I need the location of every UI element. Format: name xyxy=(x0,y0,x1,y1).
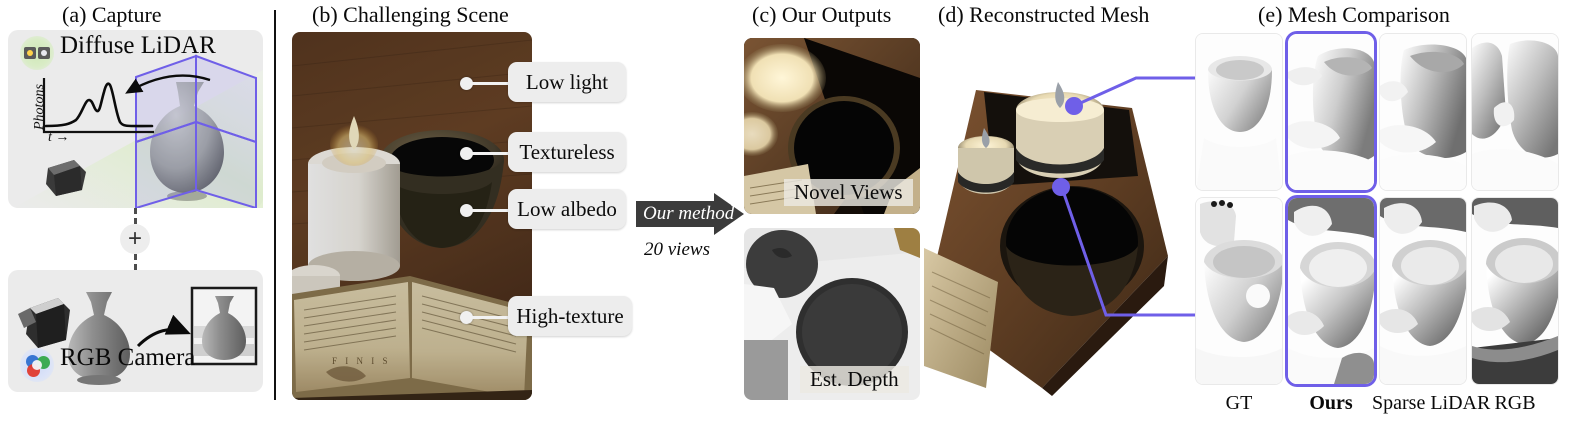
mesh-render-sparse-lidar-row1 xyxy=(1380,34,1466,190)
column-caption-gt: GT xyxy=(1196,392,1282,415)
column-caption-rgb: RGB xyxy=(1472,392,1558,415)
mesh-render-rgb-row2 xyxy=(1472,198,1558,384)
rgb-camera-label: RGB Camera xyxy=(60,344,195,372)
caption-est-depth: Est. Depth xyxy=(800,366,909,393)
connector-dash-bottom xyxy=(134,254,137,270)
return-signal-arrow-icon xyxy=(104,72,224,120)
mesh-render-sparse-lidar-row2 xyxy=(1380,198,1466,384)
callout-textureless[interactable]: Textureless xyxy=(508,132,626,172)
panel-divider xyxy=(274,10,276,400)
mesh-render-gt-row1 xyxy=(1196,34,1282,190)
panel-title-b: (b) Challenging Scene xyxy=(312,2,509,28)
combine-plus-icon: + xyxy=(120,224,150,254)
callout-high-texture[interactable]: High-texture xyxy=(508,296,632,336)
panel-title-a: (a) Capture xyxy=(62,2,162,28)
rgb-camera-card: RGB Camera xyxy=(8,270,263,392)
method-arrow-label: Our method xyxy=(643,203,734,225)
photon-plot-ylabel: Photons xyxy=(32,84,48,130)
rgb-color-wheel-icon xyxy=(20,348,54,382)
figure-root: (a) Capture (b) Challenging Scene (c) Ou… xyxy=(0,0,1593,436)
panel-title-e: (e) Mesh Comparison xyxy=(1258,2,1450,28)
diffuse-lidar-label: Diffuse LiDAR xyxy=(60,32,216,60)
mesh-tile-gt-row2[interactable] xyxy=(1196,198,1282,384)
diffuse-lidar-card: Diffuse LiDAR Photons t → xyxy=(8,30,263,208)
mesh-tile-ours-row2[interactable] xyxy=(1288,198,1374,384)
method-arrow-sublabel: 20 views xyxy=(644,239,710,261)
column-caption-ours: Ours xyxy=(1288,392,1374,415)
column-caption-sparse-lidar: Sparse LiDAR xyxy=(1372,392,1474,415)
connector-dash-top xyxy=(134,208,137,224)
panel-title-d: (d) Reconstructed Mesh xyxy=(938,2,1149,28)
mesh-render-ours-row2 xyxy=(1288,198,1374,384)
caption-novel-views: Novel Views xyxy=(784,179,913,206)
callout-low-albedo[interactable]: Low albedo xyxy=(508,189,626,229)
mesh-tile-sparse-lidar-row1[interactable] xyxy=(1380,34,1466,190)
mesh-tile-rgb-row1[interactable] xyxy=(1472,34,1558,190)
challenging-scene-photo: F I N I S xyxy=(292,32,532,400)
mesh-render-rgb-row1 xyxy=(1472,34,1558,190)
photon-plot-xlabel: t → xyxy=(48,130,69,146)
mesh-render-gt-row2 xyxy=(1196,198,1282,384)
mesh-tile-gt-row1[interactable] xyxy=(1196,34,1282,190)
scene-render: F I N I S xyxy=(292,32,532,400)
lidar-sensor-icon xyxy=(20,36,54,70)
callout-low-light[interactable]: Low light xyxy=(508,62,626,102)
mesh-tile-ours-row1[interactable] xyxy=(1288,34,1374,190)
mesh-tile-rgb-row2[interactable] xyxy=(1472,198,1558,384)
mesh-tile-sparse-lidar-row2[interactable] xyxy=(1380,198,1466,384)
panel-title-c: (c) Our Outputs xyxy=(752,2,891,28)
mesh-render-ours-row1 xyxy=(1288,34,1374,190)
